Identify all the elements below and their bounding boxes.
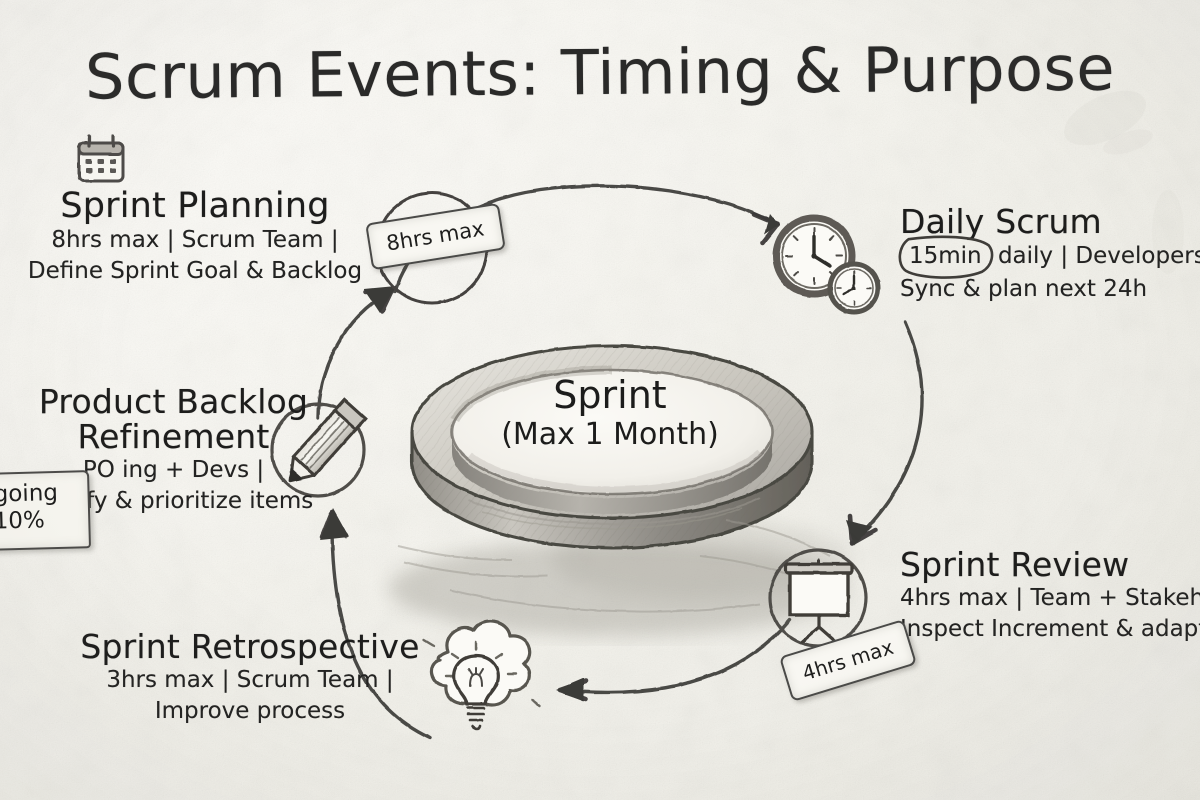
sticky-note-line-1: ngoing	[0, 479, 78, 509]
sticky-note-ongoing: ngoing 10%	[0, 470, 91, 552]
scrum-events-diagram: Sprint (Max 1 Month) Scrum Events: Timin…	[0, 0, 1200, 800]
sticky-note-line-2: 10%	[0, 507, 79, 537]
tag-backdrop-circle	[0, 0, 1200, 800]
